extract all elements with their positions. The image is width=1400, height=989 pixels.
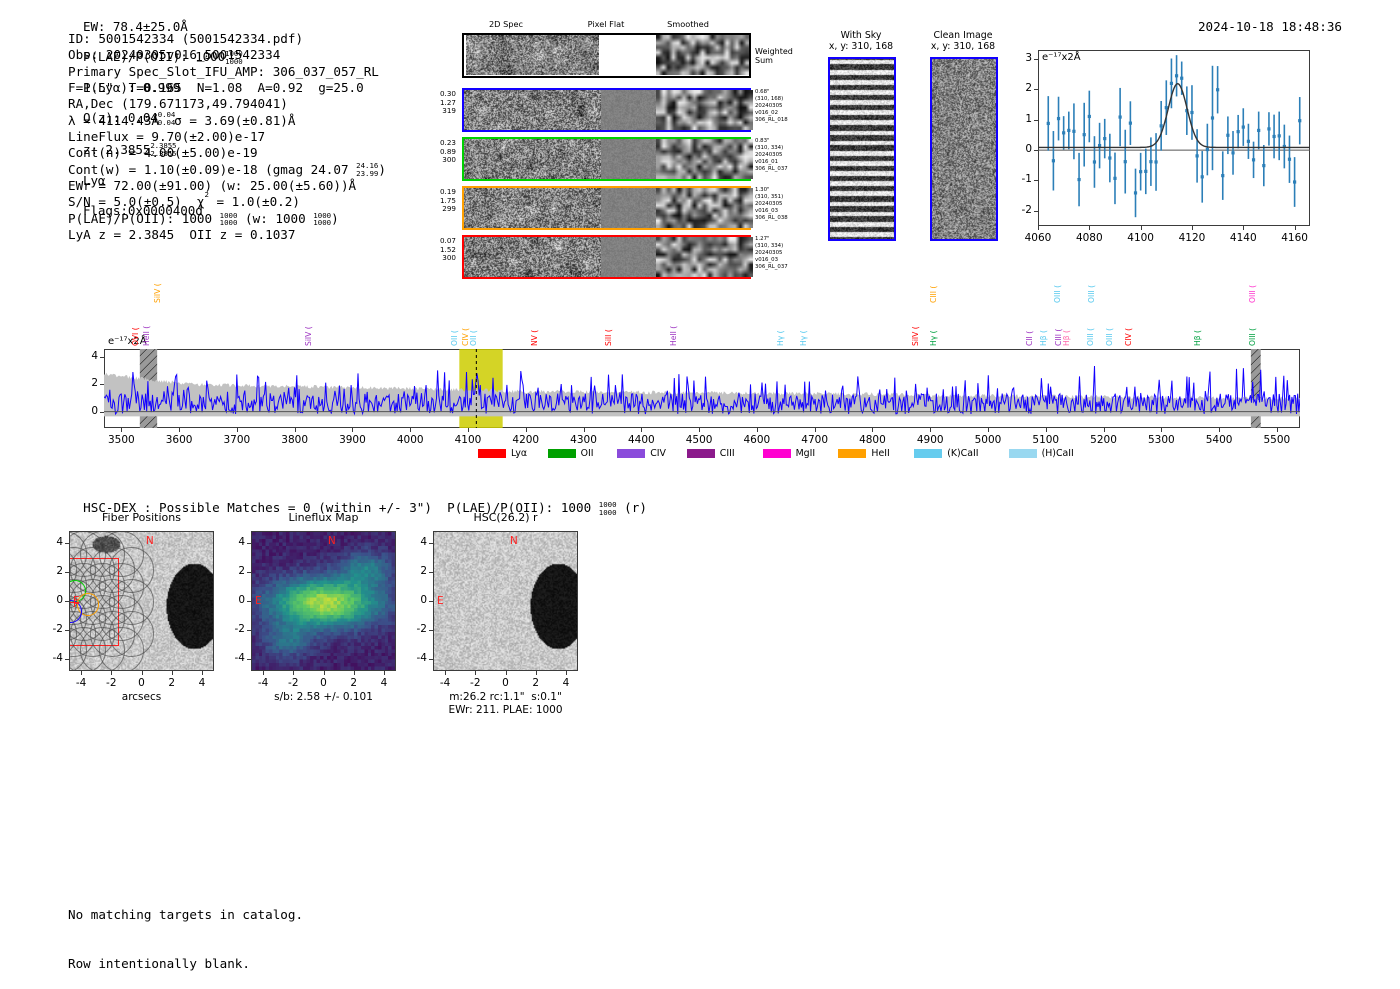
ytick <box>247 572 251 573</box>
xtick-label: 4400 <box>616 434 666 446</box>
xtick-label: 4 <box>371 677 397 689</box>
image-panel-xlabel-0: arcsecs <box>69 691 214 703</box>
ytick <box>429 630 433 631</box>
fiber-meta-4: 306_RL_037 <box>755 264 807 271</box>
legend-swatch-OII <box>548 449 576 458</box>
emission-line-label: Hγ ( <box>776 330 785 346</box>
xtick-label: 4000 <box>385 434 435 446</box>
fiber-meta-2: 20240305 <box>755 201 807 208</box>
line-profile-canvas <box>1038 50 1310 226</box>
image-panel-caption-1: s/b: 2.58 +/- 0.101 <box>219 691 428 704</box>
compass-east: E <box>73 595 80 607</box>
spectrum-ylabel: e⁻¹⁷x2Å <box>108 336 147 347</box>
ytick-label: -2 <box>1014 204 1032 216</box>
fiber-row-weights: 0.191.75299 <box>422 188 456 214</box>
fiber-meta-0: 0.83" <box>755 138 807 145</box>
xtick <box>468 428 469 432</box>
ytick-label: -1 <box>1014 173 1032 185</box>
info-lineflux: LineFlux = 9.70(±2.00)e-17 <box>68 129 386 145</box>
spec2d-col-header-0: 2D Spec <box>476 19 536 29</box>
info-plae-bot: 1000 <box>220 218 238 227</box>
legend-swatch-CIII <box>687 449 715 458</box>
ytick-label: 4 <box>227 536 245 548</box>
xtick <box>263 671 264 675</box>
ytick <box>429 543 433 544</box>
xtick <box>293 671 294 675</box>
info-cont-n: Cont(n) = 4.00(±5.00)e-19 <box>68 145 386 161</box>
fiber-meta-1: (310, 334) <box>755 243 807 250</box>
fiber-smoothed <box>656 188 753 228</box>
ytick-label: 3 <box>1014 52 1032 64</box>
cutout-title-1: Clean Image <box>908 30 1018 41</box>
xtick-label: 4600 <box>732 434 782 446</box>
xtick <box>566 671 567 675</box>
ytick-label: -4 <box>409 652 427 664</box>
legend-swatch-HeII <box>838 449 866 458</box>
ytick-label: 4 <box>409 536 427 548</box>
fiber-meta-0: 1.27" <box>755 236 807 243</box>
ytick-label: 2 <box>1014 82 1032 94</box>
xtick-label: 5500 <box>1252 434 1302 446</box>
xtick-label: 0 <box>129 677 155 689</box>
xtick-label: 2 <box>159 677 185 689</box>
compass-north: N <box>328 535 336 547</box>
legend-label: CIV <box>650 448 666 459</box>
xtick-label: 4100 <box>1119 232 1163 244</box>
legend-label: MgII <box>796 448 816 459</box>
fiber-2dspec <box>464 139 601 179</box>
xtick <box>930 428 931 432</box>
spec2d-fiber-row[interactable] <box>462 88 751 132</box>
xtick <box>445 671 446 675</box>
xtick-label: -2 <box>280 677 306 689</box>
ytick <box>65 572 69 573</box>
fiber-row-metadata: 0.83"(310, 334)20240305v016_01306_RL_037 <box>755 138 807 173</box>
info-sn-text: S/N = 5.0(±0.5) χ <box>68 194 204 209</box>
ytick-label: -2 <box>45 623 63 635</box>
emission-line-label: OIII ( <box>1248 285 1257 303</box>
weighted-sum-label: Weighted Sum <box>755 47 793 66</box>
fiber-smoothed <box>656 139 753 179</box>
fiber-meta-0: 1.30" <box>755 187 807 194</box>
fiber-pixel-flat <box>601 139 656 179</box>
fiber-meta-2: 20240305 <box>755 250 807 257</box>
xtick <box>324 671 325 675</box>
weighted-sum-smoothed <box>656 35 749 75</box>
xtick <box>1141 226 1142 230</box>
xtick-label: 4500 <box>674 434 724 446</box>
spec2d-col-header-2: Smoothed <box>658 19 718 29</box>
xtick-label: -4 <box>68 677 94 689</box>
legend-label: CIII <box>720 448 735 459</box>
ytick-label: 0 <box>1014 143 1032 155</box>
spec2d-fiber-row[interactable] <box>462 235 751 279</box>
weighted-sum-2dspec <box>466 35 599 75</box>
xtick <box>699 428 700 432</box>
xtick <box>354 671 355 675</box>
xtick-label: 4060 <box>1016 232 1060 244</box>
ytick <box>65 659 69 660</box>
info-obs: Obs: 20240305v016_5001542334 <box>68 47 386 63</box>
xtick-label: 4200 <box>501 434 551 446</box>
emission-line-label: OVI ( <box>131 327 140 346</box>
ytick <box>100 384 104 385</box>
fiber-2dspec <box>464 237 601 277</box>
info-cont-w-close: ) <box>378 162 386 177</box>
legend-swatch-(K)CaII <box>914 449 942 458</box>
compass-east: E <box>255 595 262 607</box>
compass-north: N <box>510 535 518 547</box>
xtick <box>757 428 758 432</box>
ytick-label: 1 <box>1014 113 1032 125</box>
ytick <box>65 543 69 544</box>
legend-swatch-MgII <box>763 449 791 458</box>
fiber-meta-0: 0.68" <box>755 89 807 96</box>
ytick <box>247 630 251 631</box>
xtick-label: 0 <box>493 677 519 689</box>
fiber-row-metadata: 0.68"(310, 168)20240305v016_02306_RL_018 <box>755 89 807 124</box>
emission-line-label: Hγ ( <box>799 330 808 346</box>
legend-label: Lyα <box>511 448 527 459</box>
xtick-label: 3600 <box>154 434 204 446</box>
xtick <box>111 671 112 675</box>
ytick <box>429 601 433 602</box>
fiber-row-metadata: 1.30"(310, 351)20240305v016_03306_RL_038 <box>755 187 807 222</box>
ytick-label: -2 <box>409 623 427 635</box>
emission-line-label: CIV ( <box>1124 328 1133 346</box>
fiber-row-weights: 0.071.52300 <box>422 237 456 263</box>
ytick-label: 4 <box>45 536 63 548</box>
compass-north: N <box>146 535 154 547</box>
info-primary-spec-slot: Primary Spec_Slot_IFU_AMP: 306_037_057_R… <box>68 64 386 80</box>
ytick <box>65 630 69 631</box>
fiber-row-weights: 0.230.89300 <box>422 139 456 165</box>
xtick <box>526 428 527 432</box>
xtick-label: 5300 <box>1136 434 1186 446</box>
legend-label: OII <box>581 448 594 459</box>
image-panel-caption-2: m:26.2 rc:1.1" s:0.1" EWr: 211. PLAE: 10… <box>401 691 610 717</box>
xtick-label: 4300 <box>559 434 609 446</box>
xtick <box>988 428 989 432</box>
xtick-label: 4120 <box>1170 232 1214 244</box>
fiber-meta-3: v016_03 <box>755 208 807 215</box>
fiber-meta-2: 20240305 <box>755 103 807 110</box>
emission-line-label: OIII ( <box>1105 328 1114 346</box>
fiber-circle <box>99 531 144 576</box>
ytick-label: 2 <box>409 565 427 577</box>
fiber-meta-3: v016_03 <box>755 257 807 264</box>
xtick <box>1295 226 1296 230</box>
xtick <box>1277 428 1278 432</box>
info-redshifts: LyA z = 2.3845 OII z = 0.1037 <box>68 227 386 243</box>
fiber-pixel-flat <box>601 90 656 130</box>
info-sn-chi2: S/N = 5.0(±0.5) χ2 = 1.0(±0.2) <box>68 194 386 210</box>
emission-line-label: OII ( <box>469 330 478 346</box>
info-plae-w-text: (w: 1000 <box>237 211 313 226</box>
emission-line-label: CII ( <box>1025 331 1034 346</box>
xtick <box>237 428 238 432</box>
legend-label: (K)CaII <box>947 448 978 459</box>
xtick <box>352 428 353 432</box>
legend-swatch-CIV <box>617 449 645 458</box>
fiber-meta-4: 306_RL_037 <box>755 166 807 173</box>
xtick-label: 4 <box>189 677 215 689</box>
ytick <box>100 412 104 413</box>
xtick <box>202 671 203 675</box>
header-datetime: 2024-10-18 18:48:36 <box>1198 19 1342 34</box>
hscdex-filter: (r) <box>617 500 647 515</box>
fiber-pixel-flat <box>601 188 656 228</box>
emission-line-label: CIII ( <box>929 286 938 303</box>
image-panel-title-1: Lineflux Map <box>221 511 426 524</box>
image-panel-title-0: Fiber Positions <box>39 511 244 524</box>
ytick <box>247 659 251 660</box>
compass-east: E <box>437 595 444 607</box>
xtick <box>1219 428 1220 432</box>
info-id: ID: 5001542334 (5001542334.pdf) <box>68 31 386 47</box>
emission-line-label: NV ( <box>530 330 539 346</box>
footer-line-2: Row intentionally blank. <box>68 956 303 972</box>
ytick <box>247 601 251 602</box>
xtick <box>384 671 385 675</box>
fiber-weight-2: 300 <box>422 156 456 165</box>
emission-line-label: Hβ ( <box>1039 330 1048 346</box>
xtick <box>142 671 143 675</box>
fiber-meta-1: (310, 351) <box>755 194 807 201</box>
emission-line-label: SiIV ( <box>304 326 313 346</box>
xtick <box>641 428 642 432</box>
xtick-label: 4160 <box>1273 232 1317 244</box>
ytick <box>429 659 433 660</box>
info-radec: RA,Dec (179.671173,49.794041) <box>68 96 386 112</box>
spec2d-weighted-sum-row <box>462 33 751 78</box>
info-gmag-bot: 23.99 <box>356 169 378 178</box>
xtick-label: 3500 <box>96 434 146 446</box>
ytick <box>247 543 251 544</box>
emission-line-label: SiIV ( <box>153 283 162 303</box>
emission-line-label: Hβ ( <box>1193 330 1202 346</box>
cutout-image-0[interactable] <box>828 57 896 241</box>
xtick-label: 0 <box>311 677 337 689</box>
emission-line-label: OIII ( <box>1248 328 1257 346</box>
ytick <box>65 601 69 602</box>
xtick-label: 5200 <box>1079 434 1129 446</box>
xtick <box>475 671 476 675</box>
ytick-label: 0 <box>227 594 245 606</box>
info-plae-w-bot: 1000 <box>313 218 331 227</box>
fiber-row-metadata: 1.27"(310, 334)20240305v016_03306_RL_037 <box>755 236 807 271</box>
ytick <box>429 572 433 573</box>
xtick <box>872 428 873 432</box>
xtick-label: 3800 <box>270 434 320 446</box>
xtick <box>295 428 296 432</box>
info-cont-w-text: Cont(w) = 1.10(±0.09)e-18 (gmag 24.07 <box>68 162 356 177</box>
ytick-label: 0 <box>409 594 427 606</box>
xtick-label: 4900 <box>905 434 955 446</box>
ytick-label: -2 <box>227 623 245 635</box>
xtick <box>1038 226 1039 230</box>
info-chi2-text: = 1.0(±0.2) <box>209 194 300 209</box>
ytick-label: 4 <box>82 350 98 362</box>
fiber-meta-1: (310, 334) <box>755 145 807 152</box>
xtick-label: 4700 <box>790 434 840 446</box>
cutout-subtitle-0: x, y: 310, 168 <box>806 41 916 52</box>
xtick-label: -4 <box>250 677 276 689</box>
legend-label: HeII <box>871 448 889 459</box>
fiber-2dspec <box>464 90 601 130</box>
image-panel-title-2: HSC(26.2) r <box>403 511 608 524</box>
xtick-label: 5100 <box>1021 434 1071 446</box>
emission-line-label: HeII ( <box>669 326 678 346</box>
emission-line-label: Hγ ( <box>929 330 938 346</box>
fiber-pixel-flat <box>601 237 656 277</box>
xtick <box>584 428 585 432</box>
emission-line-label: OIII ( <box>1087 285 1096 303</box>
ytick-label: 2 <box>227 565 245 577</box>
xtick <box>81 671 82 675</box>
fiber-smoothed <box>656 90 753 130</box>
xtick-label: 4140 <box>1221 232 1265 244</box>
xtick-label: 5400 <box>1194 434 1244 446</box>
cutout-title-0: With Sky <box>806 30 916 41</box>
legend-swatch-(H)CaII <box>1009 449 1037 458</box>
footer-line-1: No matching targets in catalog. <box>68 907 303 923</box>
image-panel-2[interactable] <box>433 531 578 671</box>
emission-line-label: Hβ ( <box>1062 330 1071 346</box>
xtick-label: 4800 <box>847 434 897 446</box>
emission-line-label: SiII ( <box>604 329 613 346</box>
xtick <box>1089 226 1090 230</box>
xtick-label: 3900 <box>327 434 377 446</box>
fiber-smoothed <box>656 237 753 277</box>
xtick <box>121 428 122 432</box>
xtick-label: -2 <box>98 677 124 689</box>
xtick <box>815 428 816 432</box>
cutout-subtitle-1: x, y: 310, 168 <box>908 41 1018 52</box>
fiber-weight-2: 299 <box>422 205 456 214</box>
emission-line-label: SiIV ( <box>911 326 920 346</box>
xtick-label: 4080 <box>1067 232 1111 244</box>
xtick <box>1161 428 1162 432</box>
ytick-label: 2 <box>82 377 98 389</box>
fiber-meta-1: (310, 168) <box>755 96 807 103</box>
cutout-image-1[interactable] <box>930 57 998 241</box>
spec2d-col-header-1: Pixel Flat <box>576 19 636 29</box>
xtick <box>536 671 537 675</box>
emission-line-label: OIII ( <box>1053 285 1062 303</box>
info-plae-text: P(LAE)/P(OII): 1000 <box>68 211 220 226</box>
xtick <box>1192 226 1193 230</box>
xtick <box>1104 428 1105 432</box>
xtick-label: 4 <box>553 677 579 689</box>
xtick-label: 3700 <box>212 434 262 446</box>
info-cont-w: Cont(w) = 1.10(±0.09)e-18 (gmag 24.07 24… <box>68 162 386 178</box>
ytick-label: -4 <box>227 652 245 664</box>
emission-line-label: OII ( <box>450 330 459 346</box>
fiber-2dspec <box>464 188 601 228</box>
xtick-label: 2 <box>523 677 549 689</box>
xtick-label: 2 <box>341 677 367 689</box>
image-panel-1[interactable] <box>251 531 396 671</box>
emission-line-label: HeII ( <box>142 326 151 346</box>
fiber-weight-2: 300 <box>422 254 456 263</box>
info-wavelength-sigma: λ = 4114.43Å σ = 3.69(±0.81)Å <box>68 113 386 129</box>
ytick-label: 0 <box>45 594 63 606</box>
fiber-meta-3: v016_02 <box>755 110 807 117</box>
info-chi2-exponent: 2 <box>204 190 208 199</box>
fiber-meta-3: v016_01 <box>755 159 807 166</box>
xtick <box>506 671 507 675</box>
spec2d-fiber-row[interactable] <box>462 186 751 230</box>
xtick-label: -2 <box>462 677 488 689</box>
footer-note: No matching targets in catalog. Row inte… <box>68 874 303 989</box>
spec2d-fiber-row[interactable] <box>462 137 751 181</box>
ytick-label: 0 <box>82 405 98 417</box>
xtick <box>1243 226 1244 230</box>
xtick-label: -4 <box>432 677 458 689</box>
xtick <box>1046 428 1047 432</box>
legend-swatch-Lyα <box>478 449 506 458</box>
info-observing-params: F=1.5" T=0.165 N=1.08 A=0.92 g=25.0 <box>68 80 386 96</box>
spectrum-canvas <box>104 349 1300 428</box>
fiber-weight-2: 319 <box>422 107 456 116</box>
xtick-label: 5000 <box>963 434 1013 446</box>
xtick <box>172 671 173 675</box>
info-ewr: EWr = 72.00(±91.00) (w: 25.00(±5.60))Å <box>68 178 386 194</box>
xtick <box>179 428 180 432</box>
image-panel-0[interactable] <box>69 531 214 671</box>
ytick-label: -4 <box>45 652 63 664</box>
xtick-label: 4100 <box>443 434 493 446</box>
ytick-label: 2 <box>45 565 63 577</box>
fiber-meta-4: 306_RL_018 <box>755 117 807 124</box>
info-plae: P(LAE)/P(OII): 1000 10001000 (w: 1000 10… <box>68 211 386 227</box>
xtick <box>410 428 411 432</box>
fiber-meta-2: 20240305 <box>755 152 807 159</box>
legend-label: (H)CaII <box>1042 448 1074 459</box>
fiber-meta-4: 306_RL_038 <box>755 215 807 222</box>
fiber-row-weights: 0.301.27319 <box>422 90 456 116</box>
emission-line-label: OIII ( <box>1086 328 1095 346</box>
info-plae-close: ) <box>331 211 339 226</box>
ytick <box>100 357 104 358</box>
source-info-block: ID: 5001542334 (5001542334.pdf) Obs: 202… <box>68 31 386 243</box>
